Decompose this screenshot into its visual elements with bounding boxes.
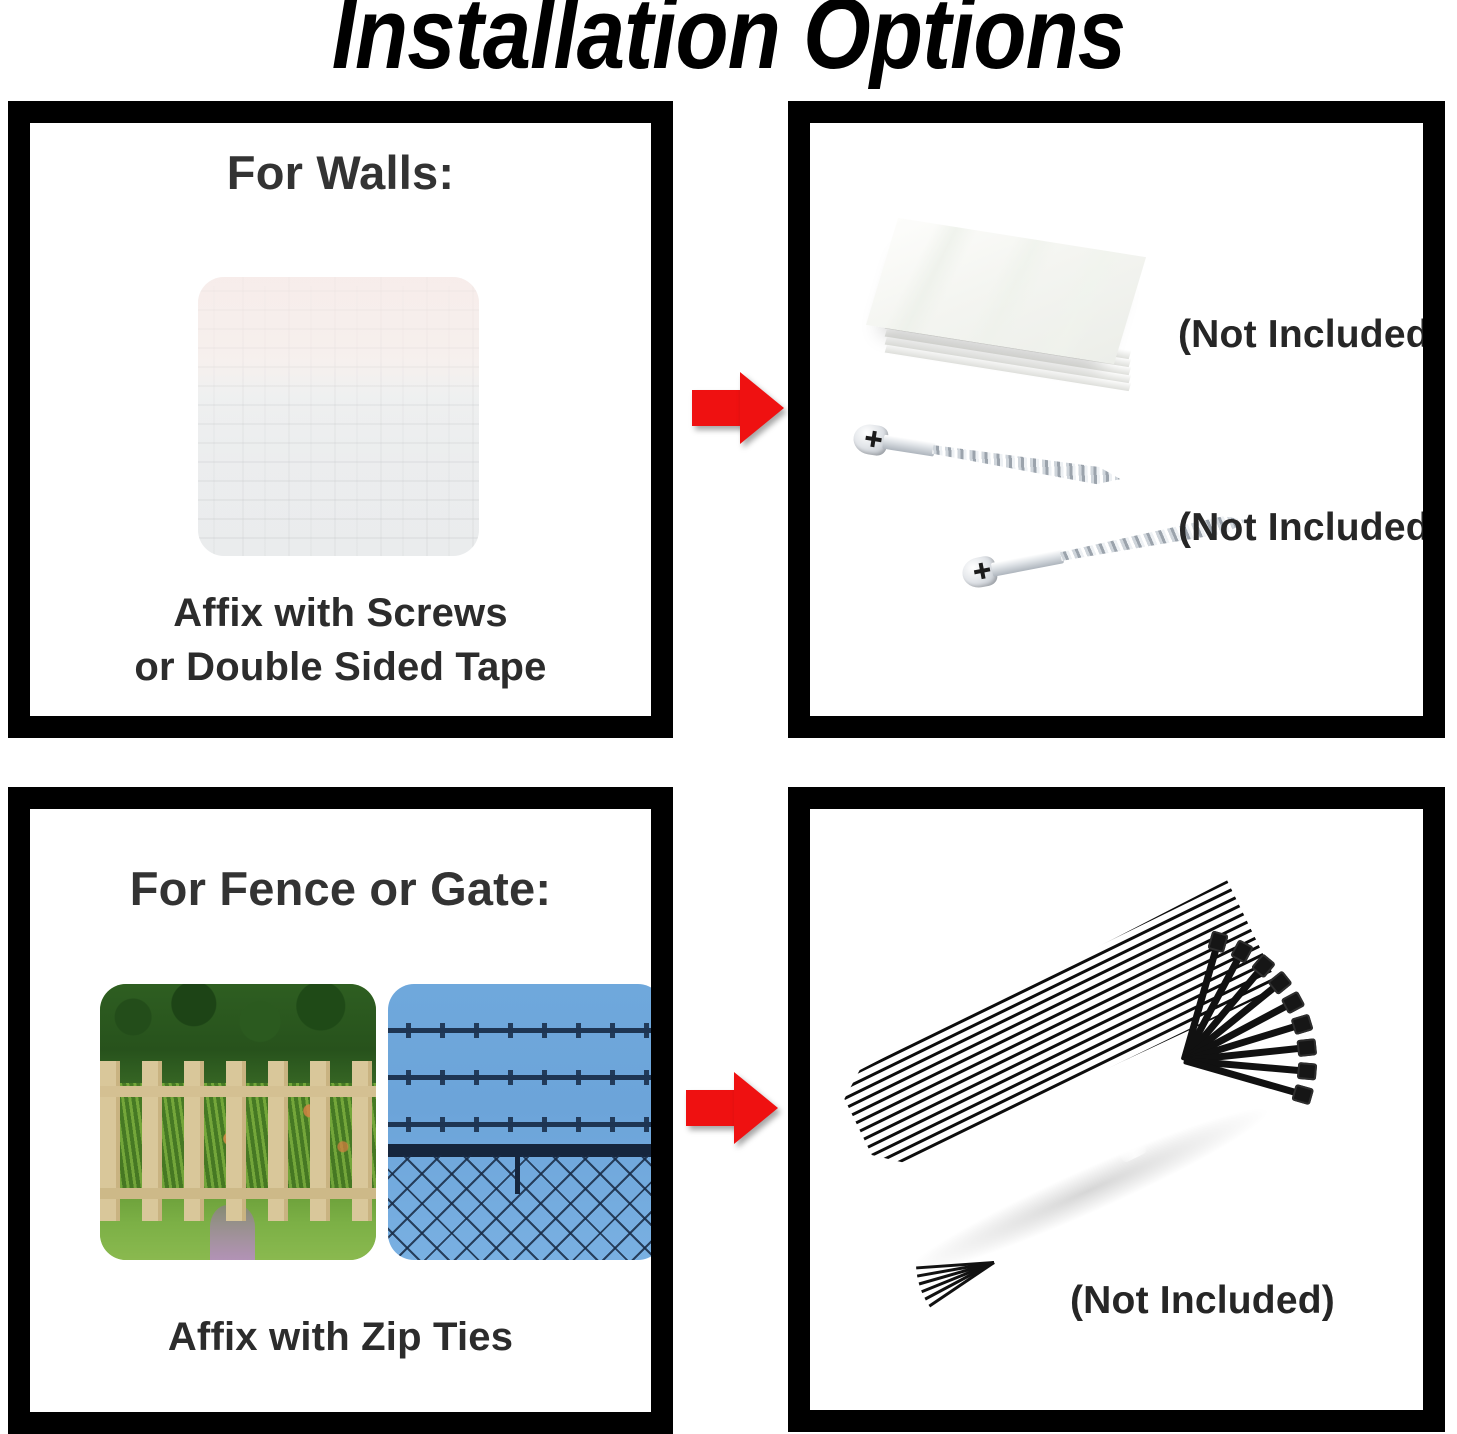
panel-hardware-inner: (Not Included) (Not Included) [810, 123, 1423, 716]
walls-caption: Affix with Screws or Double Sided Tape [30, 586, 651, 694]
screw-shank [991, 549, 1064, 576]
screw-thread [931, 438, 1122, 491]
double-sided-tape-stack-image [882, 235, 1162, 390]
zip-tie-tips [856, 1209, 1036, 1319]
for-walls-heading: For Walls: [30, 145, 651, 200]
barbed-wire-strand [388, 1122, 651, 1127]
screws-not-included-label: (Not Included) [1178, 506, 1423, 550]
fence-caption: Affix with Zip Ties [30, 1310, 651, 1364]
phillips-cross-icon [864, 430, 882, 448]
walls-caption-line-2: or Double Sided Tape [30, 640, 651, 694]
fence-rail-bottom [100, 1188, 376, 1199]
wood-screw-image-1 [852, 424, 1123, 492]
arrow-head [740, 372, 784, 444]
panel-grid: For Walls: Affix with Screws or Double S… [0, 101, 1457, 1434]
panel-for-fence-or-gate: For Fence or Gate: Affix wit [8, 787, 673, 1434]
arrow-head [734, 1072, 778, 1144]
panel-for-walls-inner: For Walls: Affix with Screws or Double S… [30, 123, 651, 716]
walls-caption-line-1: Affix with Screws [30, 586, 651, 640]
tape-not-included-label: (Not Included) [1178, 313, 1423, 357]
black-zip-tie-bundle-image [858, 937, 1338, 1337]
phillips-cross-icon [973, 561, 992, 580]
red-right-arrow-icon-top [692, 372, 784, 444]
panel-hardware: (Not Included) (Not Included) [788, 101, 1445, 738]
zip-ties-not-included-label: (Not Included) [1070, 1279, 1335, 1323]
chain-link-barbed-wire-photo [388, 984, 651, 1260]
barbed-wire-strand [388, 1075, 651, 1080]
barbed-wire-strand [388, 1028, 651, 1033]
panel-for-fence-inner: For Fence or Gate: Affix wit [30, 809, 651, 1412]
for-fence-heading: For Fence or Gate: [30, 861, 651, 916]
white-brick-wall-photo [198, 277, 479, 556]
panel-for-walls: For Walls: Affix with Screws or Double S… [8, 101, 673, 738]
screw-shank [882, 435, 936, 457]
fence-rail-top [100, 1086, 376, 1097]
fence-caption-line-1: Affix with Zip Ties [30, 1310, 651, 1364]
paint-wash-overlay [198, 277, 479, 556]
panel-zip-ties-inner: (Not Included) [810, 809, 1423, 1410]
fence-post [515, 1144, 520, 1194]
bundle-band [1086, 1075, 1147, 1164]
zip-tie-heads-fan [1144, 965, 1344, 1155]
panel-zip-ties: (Not Included) [788, 787, 1445, 1432]
page-title: Installation Options [102, 0, 1355, 84]
red-right-arrow-icon-bottom [686, 1072, 778, 1144]
wooden-picket-fence-photo [100, 984, 376, 1260]
